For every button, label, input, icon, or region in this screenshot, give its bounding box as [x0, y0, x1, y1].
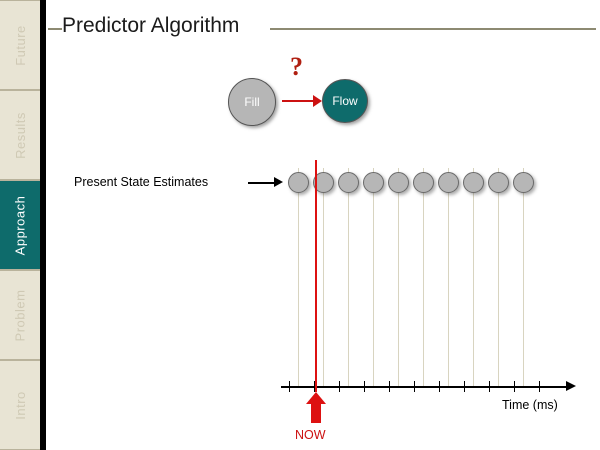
- sidebar-item-intro[interactable]: Intro: [0, 360, 40, 450]
- node-fill-label: Fill: [244, 95, 259, 109]
- page-title: Predictor Algorithm: [62, 14, 239, 38]
- grid-line: [448, 168, 449, 386]
- state-estimate-dot: [463, 172, 484, 193]
- sidebar-item-label: Intro: [12, 391, 27, 420]
- fill-to-flow-arrow-line: [282, 100, 315, 102]
- state-estimate-dot: [488, 172, 509, 193]
- time-axis-line: [281, 386, 569, 388]
- slide-canvas: Future Results Approach Problem Intro Pr…: [0, 0, 600, 450]
- axis-tick: [439, 381, 440, 392]
- grid-line: [523, 168, 524, 386]
- state-estimate-dot: [513, 172, 534, 193]
- sidebar-item-label: Future: [13, 25, 28, 66]
- state-estimate-dot: [388, 172, 409, 193]
- sidebar-item-future[interactable]: Future: [0, 0, 40, 90]
- state-estimate-dot: [338, 172, 359, 193]
- now-marker-line: [315, 160, 317, 392]
- state-estimate-dot: [363, 172, 384, 193]
- state-estimate-dot: [288, 172, 309, 193]
- node-flow-label: Flow: [332, 94, 357, 108]
- sidebar-item-problem[interactable]: Problem: [0, 270, 40, 360]
- time-axis-label: Time (ms): [502, 398, 558, 412]
- axis-tick: [414, 381, 415, 392]
- grid-line: [298, 168, 299, 386]
- now-arrow-shaft: [311, 403, 321, 423]
- grid-line: [373, 168, 374, 386]
- axis-tick: [289, 381, 290, 392]
- now-label: NOW: [295, 428, 326, 442]
- node-fill: Fill: [228, 78, 276, 126]
- axis-tick: [364, 381, 365, 392]
- sidebar-item-label: Problem: [13, 289, 28, 341]
- grid-line: [398, 168, 399, 386]
- sidebar-divider: [40, 0, 46, 450]
- sidebar-item-label: Approach: [13, 195, 28, 255]
- title-rule-right: [270, 28, 596, 30]
- sidebar: Future Results Approach Problem Intro: [0, 0, 46, 450]
- axis-tick: [339, 381, 340, 392]
- state-estimate-dot: [438, 172, 459, 193]
- axis-tick: [389, 381, 390, 392]
- sidebar-item-approach[interactable]: Approach: [0, 180, 40, 270]
- grid-line: [473, 168, 474, 386]
- grid-line: [348, 168, 349, 386]
- axis-tick: [464, 381, 465, 392]
- grid-line: [498, 168, 499, 386]
- fill-to-flow-arrow-icon: [313, 95, 322, 107]
- grid-line: [423, 168, 424, 386]
- sidebar-item-label: Results: [13, 112, 28, 159]
- present-state-arrow-line: [248, 182, 276, 184]
- axis-tick: [489, 381, 490, 392]
- sidebar-item-results[interactable]: Results: [0, 90, 40, 180]
- present-state-estimates-label: Present State Estimates: [74, 175, 208, 189]
- question-mark-label: ?: [290, 52, 303, 82]
- time-axis-arrow-icon: [566, 381, 576, 391]
- title-rule-left: [48, 28, 62, 30]
- node-flow: Flow: [322, 79, 368, 123]
- grid-line: [323, 168, 324, 386]
- axis-tick: [514, 381, 515, 392]
- state-estimate-dot: [413, 172, 434, 193]
- present-state-arrow-icon: [274, 177, 283, 187]
- axis-tick: [539, 381, 540, 392]
